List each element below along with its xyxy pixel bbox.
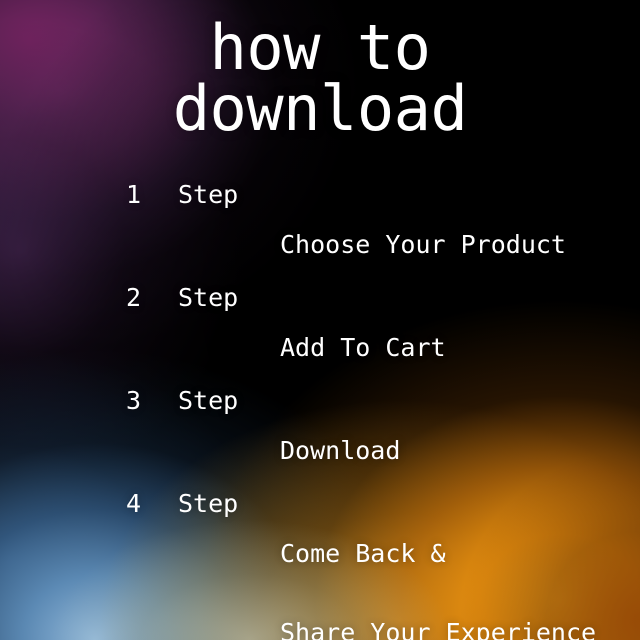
step-number-1: 1 bbox=[0, 182, 178, 207]
how-to-download-poster: how to download 1 Step Choose Your Produ… bbox=[0, 0, 640, 640]
step-description-line: Add To Cart bbox=[280, 335, 640, 360]
step-description-line: Download bbox=[280, 438, 640, 463]
step-description-line: Come Back & bbox=[280, 541, 640, 566]
step-item-4: 4 Step Come Back & Share Your Experience bbox=[0, 491, 640, 640]
step-number-2: 2 bbox=[0, 285, 178, 310]
step-description-line: Share Your Experience bbox=[280, 620, 640, 640]
step-number-4: 4 bbox=[0, 491, 178, 516]
step-label-3: Step bbox=[178, 388, 280, 413]
title-line-1: how to bbox=[0, 18, 640, 79]
step-number-3: 3 bbox=[0, 388, 178, 413]
step-label-1: Step bbox=[178, 182, 280, 207]
step-description-line: Choose Your Product bbox=[280, 232, 640, 257]
step-label-4: Step bbox=[178, 491, 280, 516]
poster-content: how to download 1 Step Choose Your Produ… bbox=[0, 0, 640, 640]
step-description-4: Come Back & Share Your Experience bbox=[280, 491, 640, 640]
page-title: how to download bbox=[0, 18, 640, 140]
step-label-2: Step bbox=[178, 285, 280, 310]
title-line-2: download bbox=[0, 79, 640, 140]
